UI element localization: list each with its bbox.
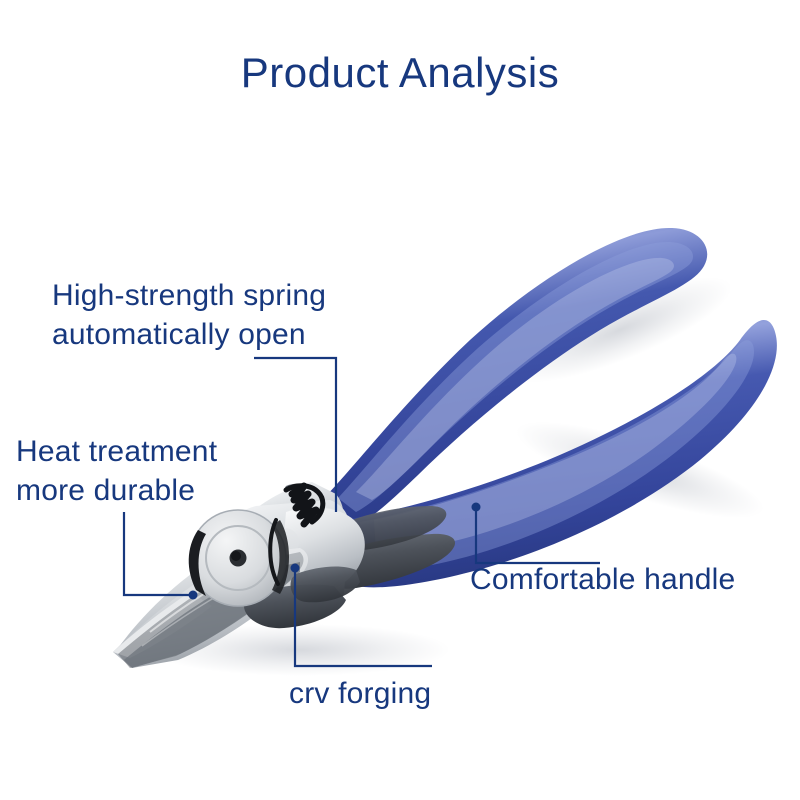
callout-line-2: automatically open [52,315,326,354]
callout-line-1: Comfortable handle [470,560,735,599]
callout-line-2: more durable [16,471,217,510]
callout-label-crv-forging: crv forging [289,674,431,713]
callout-line-1: High-strength spring [52,276,326,315]
callout-label-high-strength-spring: High-strength spring automatically open [52,276,326,354]
callout-line-1: crv forging [289,674,431,713]
page-title: Product Analysis [0,48,800,98]
callout-label-heat-treatment: Heat treatment more durable [16,432,217,510]
infographic-canvas: Product Analysis High-strength spring au… [0,0,800,800]
callout-line-1: Heat treatment [16,432,217,471]
callout-label-comfortable-handle: Comfortable handle [470,560,735,599]
